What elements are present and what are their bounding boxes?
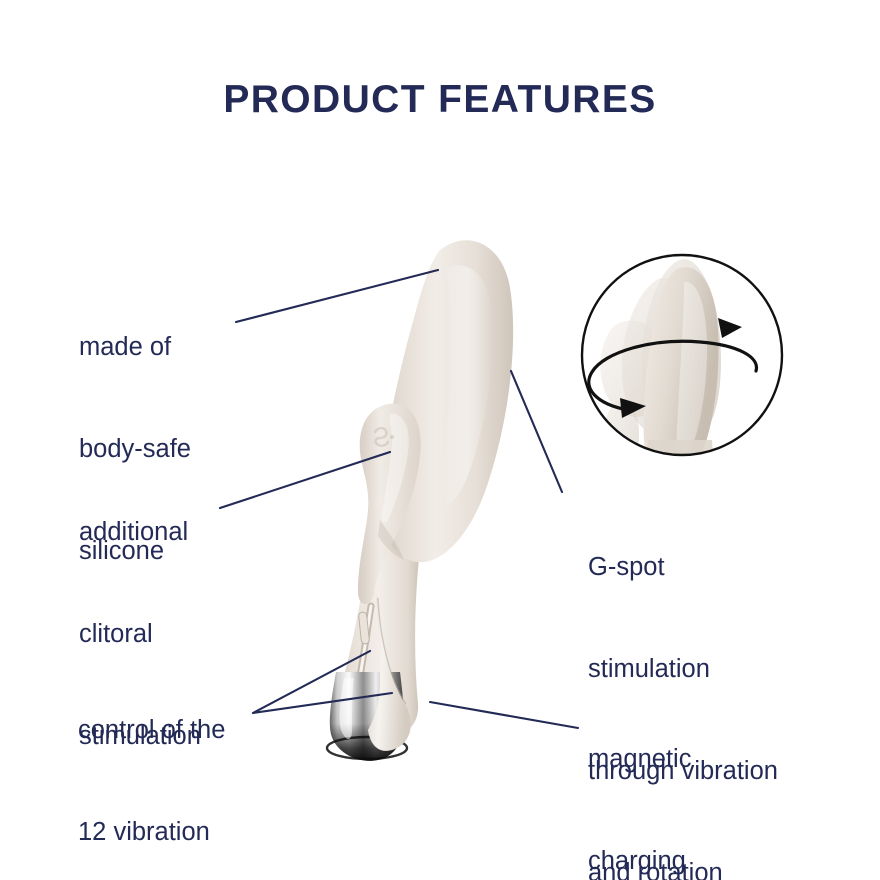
callout-line: magnetic — [588, 742, 711, 776]
callout-line: control of the — [78, 713, 234, 747]
callout-control-of-programs: control of the 12 vibration and 5 rotati… — [78, 645, 234, 880]
callout-line: G-spot — [588, 550, 778, 584]
callout-line: made of — [79, 330, 191, 364]
callout-line: 12 vibration — [78, 815, 234, 849]
product-features-infographic: PRODUCT FEATURES — [0, 0, 880, 880]
rotation-arrowhead-right — [718, 318, 742, 338]
callout-magnetic-charging-connection: magnetic charging connection — [588, 674, 711, 880]
callout-line: additional — [79, 515, 201, 549]
callout-line: charging — [588, 844, 711, 878]
rotation-detail-inset — [582, 255, 782, 520]
product-body — [327, 240, 513, 761]
